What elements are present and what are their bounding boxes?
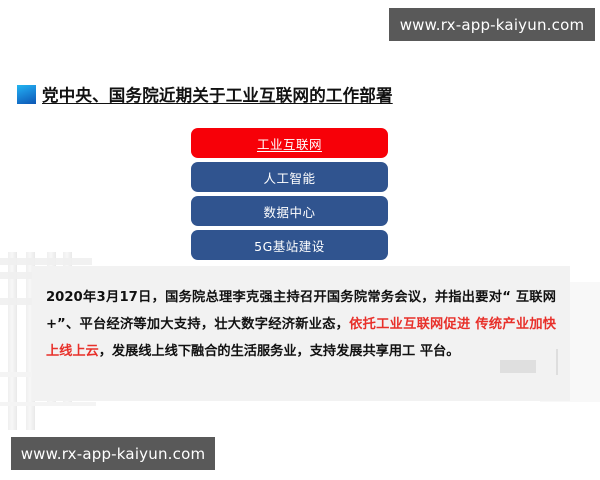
watermark-bottom-left: www.rx-app-kaiyun.com xyxy=(11,437,215,470)
panel-artifact-smudge xyxy=(500,360,536,373)
panel-artifact-tick xyxy=(556,349,558,375)
topic-button-label: 工业互联网 xyxy=(257,134,322,153)
paragraph-segment-trailing: ，发展线上线下融合的生活服务业，支持发展共享用工 平台。 xyxy=(99,344,460,359)
page-title-text: 党中央、国务院近期关于工业互联网的工作部署 xyxy=(42,82,393,106)
watermark-top-right: www.rx-app-kaiyun.com xyxy=(389,8,595,41)
topic-button-label: 人工智能 xyxy=(263,168,315,187)
topic-button-stack: 工业互联网 人工智能 数据中心 5G基站建设 xyxy=(191,128,388,260)
topic-button-label: 5G基站建设 xyxy=(254,236,325,255)
content-panel: 2020年3月17日，国务院总理李克强主持召开国务院常务会议，并指出要对“ 互联… xyxy=(32,266,570,401)
slide-canvas: 党中央、国务院近期关于工业互联网的工作部署 工业互联网 人工智能 数据中心 5G… xyxy=(0,0,600,480)
content-paragraph: 2020年3月17日，国务院总理李克强主持召开国务院常务会议，并指出要对“ 互联… xyxy=(46,284,556,365)
topic-button-5g-base-station[interactable]: 5G基站建设 xyxy=(191,230,388,260)
topic-button-label: 数据中心 xyxy=(263,202,315,221)
blue-square-marker-icon xyxy=(17,85,36,104)
topic-button-industrial-internet[interactable]: 工业互联网 xyxy=(191,128,388,158)
page-title: 党中央、国务院近期关于工业互联网的工作部署 xyxy=(17,82,393,106)
topic-button-artificial-intelligence[interactable]: 人工智能 xyxy=(191,162,388,192)
topic-button-data-center[interactable]: 数据中心 xyxy=(191,196,388,226)
